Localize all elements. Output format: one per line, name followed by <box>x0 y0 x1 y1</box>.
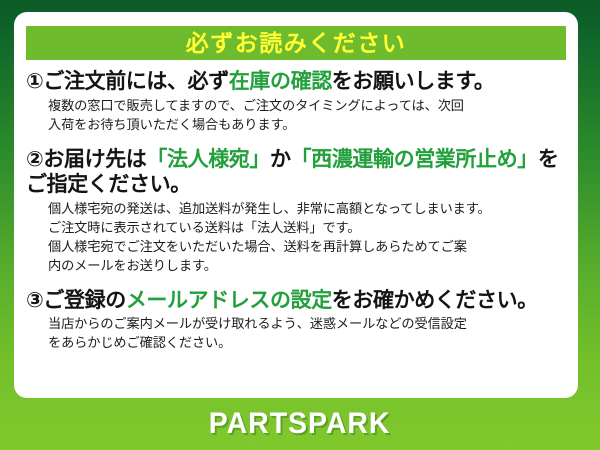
notice-body-line: 複数の窓口で販売してますので、ご注文のタイミングによっては、次回 <box>48 96 566 115</box>
notice-marker-2: ② <box>26 148 43 171</box>
notice-heading-accent: 「法人様宛」 <box>146 148 270 171</box>
notice-heading-accent: 「西濃運輸の営業所止め」 <box>291 148 538 171</box>
notice-poster: 必ずお読みください ①ご注文前には、必ず在庫の確認をお願いします。 複数の窓口で… <box>0 0 600 450</box>
notice-heading-accent: メールアドレスの設定 <box>126 289 332 312</box>
notice-card: 必ずお読みください ①ご注文前には、必ず在庫の確認をお願いします。 複数の窓口で… <box>14 12 578 398</box>
notice-heading-1: ①ご注文前には、必ず在庫の確認をお願いします。 <box>26 69 566 95</box>
notice-item-3: ③ご登録のメールアドレスの設定をお確かめください。 当店からのご案内メールが受け… <box>26 288 566 353</box>
notice-heading-part: ご注文前には、必ず <box>43 70 228 93</box>
notice-body-2: 個人様宅宛の発送は、追加送料が発生し、非常に高額となってしまいます。 ご注文時に… <box>48 199 566 275</box>
footer-bar: PARTSPARK <box>0 398 600 450</box>
notice-body-line: をあらかじめご確認ください。 <box>48 333 566 352</box>
notice-body-line: 入荷をお待ち頂いただく場合もあります。 <box>48 115 566 134</box>
notice-body-line: 内のメールをお送りします。 <box>48 256 566 275</box>
notice-body-line: 当店からのご案内メールが受け取れるよう、迷惑メールなどの受信設定 <box>48 314 566 333</box>
brand-logo-text: PARTSPARK <box>209 407 391 441</box>
notice-body-line: ご注文時に表示されている送料は「法人送料」です。 <box>48 218 566 237</box>
header-band: 必ずお読みください <box>26 26 566 60</box>
notice-marker-1: ① <box>26 70 43 93</box>
page-title: 必ずお読みください <box>186 32 407 55</box>
notice-body-line: 個人様宅宛でご注文をいただいた場合、送料を再計算しあらためてご案 <box>48 237 566 256</box>
notice-item-2: ②お届け先は「法人様宛」か「西濃運輸の営業所止め」をご指定ください。 個人様宅宛… <box>26 147 566 275</box>
notice-heading-part: をお願いします。 <box>332 70 495 93</box>
notice-heading-part: か <box>270 148 291 171</box>
notice-heading-2: ②お届け先は「法人様宛」か「西濃運輸の営業所止め」をご指定ください。 <box>26 147 566 198</box>
notice-heading-part: ご登録の <box>43 289 125 312</box>
notice-list: ①ご注文前には、必ず在庫の確認をお願いします。 複数の窓口で販売してますので、ご… <box>26 69 566 352</box>
notice-body-line: 個人様宅宛の発送は、追加送料が発生し、非常に高額となってしまいます。 <box>48 199 566 218</box>
notice-heading-3: ③ご登録のメールアドレスの設定をお確かめください。 <box>26 288 566 314</box>
notice-body-1: 複数の窓口で販売してますので、ご注文のタイミングによっては、次回 入荷をお待ち頂… <box>48 96 566 134</box>
notice-marker-3: ③ <box>26 289 43 312</box>
notice-body-3: 当店からのご案内メールが受け取れるよう、迷惑メールなどの受信設定 をあらかじめご… <box>48 314 566 352</box>
notice-heading-accent: 在庫の確認 <box>229 70 332 93</box>
notice-heading-part: お届け先は <box>43 148 146 171</box>
notice-item-1: ①ご注文前には、必ず在庫の確認をお願いします。 複数の窓口で販売してますので、ご… <box>26 69 566 134</box>
notice-heading-part: をお確かめください。 <box>332 289 538 312</box>
